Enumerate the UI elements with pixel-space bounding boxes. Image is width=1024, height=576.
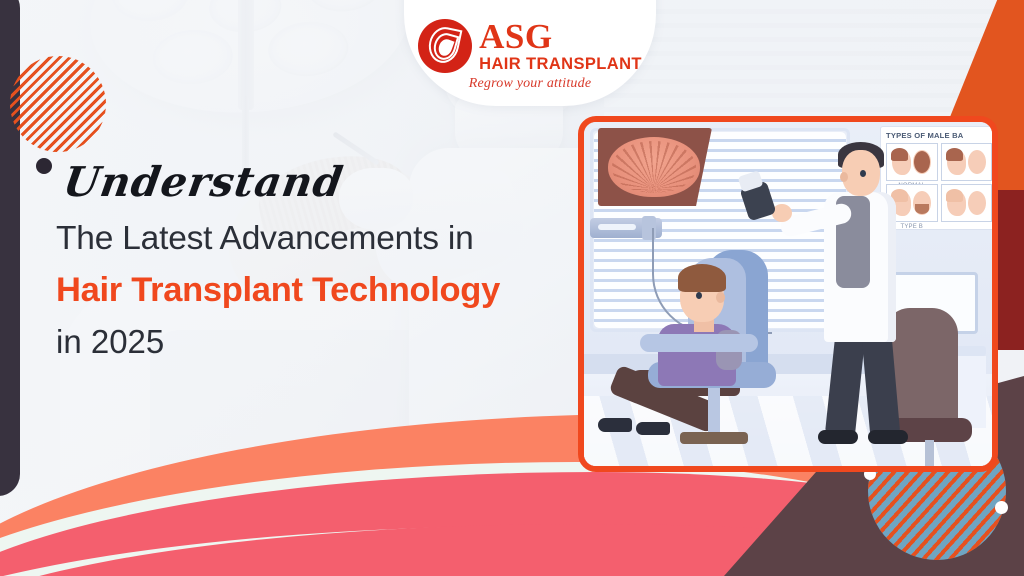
dot-decoration-top-left	[36, 158, 52, 174]
logo-tagline: Regrow your attitude	[418, 76, 642, 92]
striped-circle-decoration-top-left	[10, 56, 106, 152]
logo-subtitle-text: HAIR TRANSPLANT	[479, 56, 642, 73]
clinic-illustration: TYPES OF MALE BA NORMAL TYPE B	[578, 116, 998, 472]
poster-cell: NORMAL	[886, 143, 938, 181]
headline-script-word: Understand	[60, 158, 347, 206]
brand-logo[interactable]: ASG HAIR TRANSPLANT Regrow your attitude	[404, 0, 656, 106]
headline-block: Understand The Latest Advancements in Ha…	[56, 158, 576, 361]
scalp-display-icon	[598, 128, 712, 206]
poster-title: TYPES OF MALE BA	[886, 131, 992, 140]
headline-line-2: The Latest Advancements in	[56, 220, 576, 258]
logo-brand-text: ASG	[479, 19, 642, 54]
left-accent-bar	[0, 0, 20, 496]
headline-line-3: Hair Transplant Technology	[56, 271, 576, 310]
baldness-types-poster: TYPES OF MALE BA NORMAL TYPE B	[880, 126, 998, 230]
dot-decoration-b	[995, 501, 1008, 514]
poster-cell	[941, 184, 993, 222]
hair-drop-icon	[418, 19, 472, 73]
headline-line-4: in 2025	[56, 323, 576, 361]
blog-banner: ASG HAIR TRANSPLANT Regrow your attitude…	[0, 0, 1024, 576]
poster-cell	[941, 143, 993, 181]
